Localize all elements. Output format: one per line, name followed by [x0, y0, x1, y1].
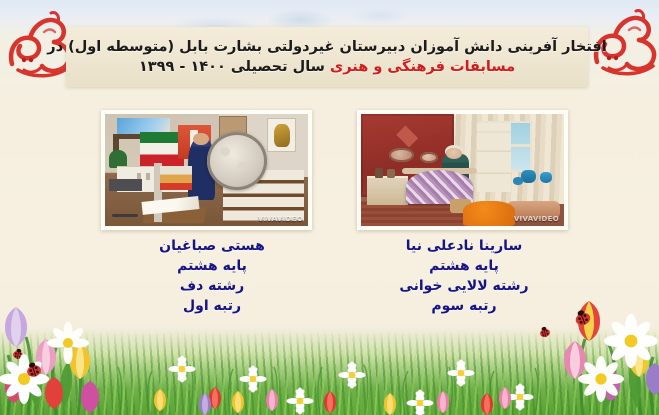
title-line-2-highlight: مسابقات فرهنگی و هنری [330, 59, 515, 75]
caption-sarina-grade: پایه هشتم [348, 256, 580, 276]
caption-hasti-field: رشته دف [96, 276, 328, 296]
photo-sarina-scene [361, 114, 564, 226]
caption-sarina-field: رشته لالایی خوانی [348, 276, 580, 296]
title-line-2-plain: سال تحصیلی ۱۴۰۰ - ۱۳۹۹ [139, 59, 325, 75]
caption-sarina: سارینا نادعلی نیا پایه هشتم رشته لالایی … [348, 236, 580, 316]
photo-hasti-scene [105, 114, 308, 226]
photo-frame-sarina[interactable]: VIVAVIDEO [357, 110, 568, 230]
title-line-1: افتخار آفرینی دانش آموزان دبیرستان غیردو… [47, 37, 606, 57]
photo-hasti: VIVAVIDEO [105, 114, 308, 226]
caption-hasti-grade: پایه هشتم [96, 256, 328, 276]
watermark-vivavideo: VIVAVIDEO [514, 215, 559, 223]
caption-hasti-name: هستی صباغیان [96, 236, 328, 256]
caption-sarina-name: سارینا نادعلی نیا [348, 236, 580, 256]
caption-sarina-rank: رتبه سوم [348, 296, 580, 316]
caption-hasti-rank: رتبه اول [96, 296, 328, 316]
title-line-2: مسابقات فرهنگی و هنری سال تحصیلی ۱۴۰۰ - … [139, 57, 515, 77]
grass-band [0, 327, 659, 415]
title-banner: افتخار آفرینی دانش آموزان دبیرستان غیردو… [66, 27, 588, 87]
photo-frame-hasti[interactable]: VIVAVIDEO [101, 110, 312, 230]
caption-hasti: هستی صباغیان پایه هشتم رشته دف رتبه اول [96, 236, 328, 316]
poster-canvas: افتخار آفرینی دانش آموزان دبیرستان غیردو… [0, 0, 659, 415]
photo-sarina: VIVAVIDEO [361, 114, 564, 226]
watermark-vivavideo: VIVAVIDEO [258, 215, 303, 223]
